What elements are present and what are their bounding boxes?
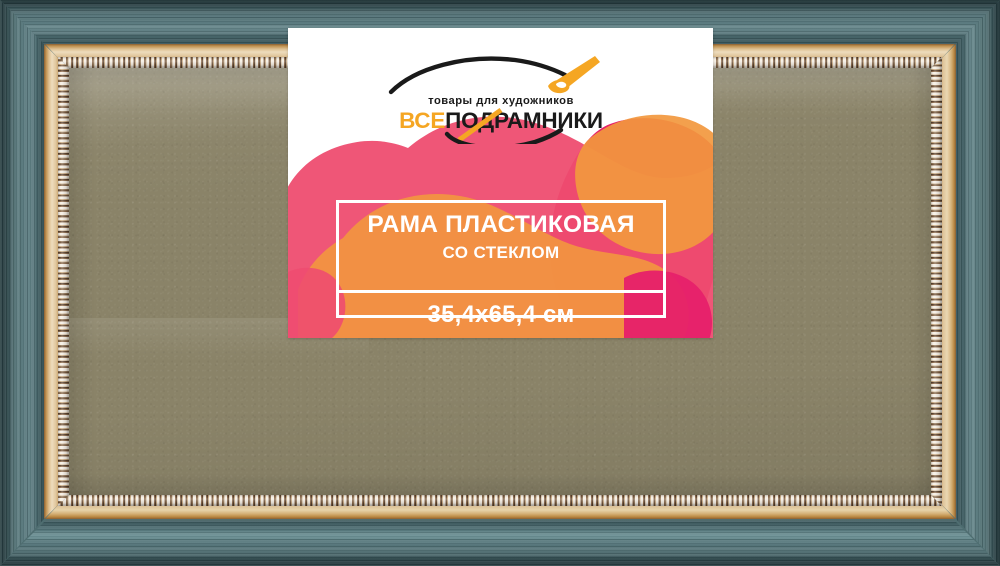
frame-bead-right [931,57,942,506]
logo-artwork: товары для художников ВСЕПОДРАМНИКИ [381,48,621,144]
spec-box-divider [336,290,666,293]
product-size-value: 35,4x65,4 см [336,303,666,327]
logo-swoosh-top [391,59,565,92]
frame-rail-right [955,0,1000,566]
frame-bead-left [58,57,69,506]
brand-logo: товары для художников ВСЕПОДРАМНИКИ [288,48,713,148]
frame-rail-left [0,0,45,566]
logo-tagline: товары для художников [428,95,574,107]
paintbrush-icon [548,56,600,93]
logo-brand-suffix: ПОДРАМНИКИ [445,108,603,133]
frame-slip-left [44,44,59,519]
frame-slip-right [941,44,956,519]
product-type-title: РАМА ПЛАСТИКОВАЯ [336,213,666,238]
product-image: товары для художников ВСЕПОДРАМНИКИ РАМА… [0,0,1000,566]
product-label-card: товары для художников ВСЕПОДРАМНИКИ РАМА… [288,28,713,338]
frame-bead-bottom [58,495,942,506]
logo-brand-prefix: ВСЕ [399,108,445,133]
product-type-subtitle: СО СТЕКЛОМ [336,244,666,261]
frame-rail-bottom [0,518,1000,566]
